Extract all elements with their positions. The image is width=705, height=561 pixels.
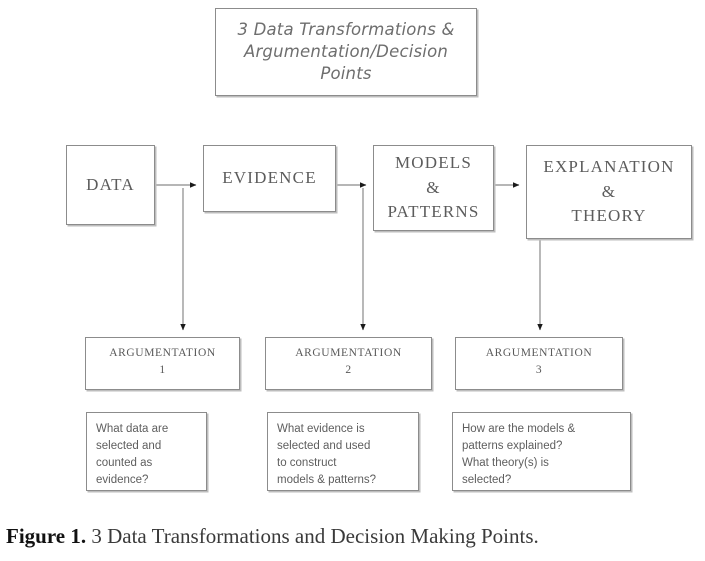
argumentation-box-3-label: ARGUMENTATION	[486, 345, 593, 362]
question-box-3-line-3: What theory(s) is	[462, 455, 575, 472]
question-box-3-line-4: selected?	[462, 472, 575, 489]
diagram-title-line-2: Argumentation/Decision	[237, 41, 454, 63]
argumentation-box-3-number: 3	[486, 362, 593, 379]
argumentation-box-2-text: ARGUMENTATION 2	[295, 345, 402, 380]
stage-box-evidence-text: EVIDENCE	[222, 166, 317, 191]
question-box-1-line-3: counted as	[96, 455, 168, 472]
stage-box-models-line-2: &	[387, 176, 479, 201]
question-box-2: What evidence is selected and used to co…	[267, 412, 419, 491]
question-box-2-line-2: selected and used	[277, 438, 376, 455]
figure-diagram: 3 Data Transformations & Argumentation/D…	[0, 0, 705, 505]
stage-box-explanation-line-1: EXPLANATION	[543, 155, 674, 180]
question-box-2-line-1: What evidence is	[277, 421, 376, 438]
stage-box-models-and-patterns: MODELS & PATTERNS	[373, 145, 494, 231]
stage-box-evidence-line-1: EVIDENCE	[222, 166, 317, 191]
argumentation-box-3: ARGUMENTATION 3	[455, 337, 623, 390]
stage-box-data-line-1: DATA	[86, 173, 135, 198]
stage-box-explanation-and-theory: EXPLANATION & THEORY	[526, 145, 692, 239]
question-box-1-line-1: What data are	[96, 421, 168, 438]
figure-caption-text: 3 Data Transformations and Decision Maki…	[86, 524, 539, 548]
question-box-2-line-4: models & patterns?	[277, 472, 376, 489]
question-box-2-line-3: to construct	[277, 455, 376, 472]
stage-box-explanation-text: EXPLANATION & THEORY	[543, 155, 674, 229]
argumentation-box-3-text: ARGUMENTATION 3	[486, 345, 593, 380]
argumentation-box-1-text: ARGUMENTATION 1	[109, 345, 216, 380]
stage-box-models-line-1: MODELS	[387, 151, 479, 176]
stage-box-models-and-patterns-text: MODELS & PATTERNS	[387, 151, 479, 225]
diagram-title-line-3: Points	[237, 63, 454, 85]
argumentation-box-1-number: 1	[109, 362, 216, 379]
diagram-title-text: 3 Data Transformations & Argumentation/D…	[237, 19, 454, 85]
figure-caption: Figure 1. 3 Data Transformations and Dec…	[6, 523, 705, 549]
argumentation-box-2-label: ARGUMENTATION	[295, 345, 402, 362]
argumentation-box-1: ARGUMENTATION 1	[85, 337, 240, 390]
question-box-1-line-2: selected and	[96, 438, 168, 455]
stage-box-evidence: EVIDENCE	[203, 145, 336, 212]
argumentation-box-2-number: 2	[295, 362, 402, 379]
question-box-1-text: What data are selected and counted as ev…	[96, 421, 168, 489]
diagram-title-line-1: 3 Data Transformations &	[237, 19, 454, 41]
question-box-3-line-2: patterns explained?	[462, 438, 575, 455]
question-box-1: What data are selected and counted as ev…	[86, 412, 207, 491]
stage-box-models-line-3: PATTERNS	[387, 200, 479, 225]
argumentation-box-2: ARGUMENTATION 2	[265, 337, 432, 390]
question-box-3: How are the models & patterns explained?…	[452, 412, 631, 491]
question-box-3-text: How are the models & patterns explained?…	[462, 421, 575, 489]
figure-caption-label: Figure 1.	[6, 524, 86, 548]
diagram-title-box: 3 Data Transformations & Argumentation/D…	[215, 8, 477, 96]
argumentation-box-1-label: ARGUMENTATION	[109, 345, 216, 362]
question-box-3-line-1: How are the models &	[462, 421, 575, 438]
stage-box-data: DATA	[66, 145, 155, 225]
question-box-2-text: What evidence is selected and used to co…	[277, 421, 376, 489]
question-box-1-line-4: evidence?	[96, 472, 168, 489]
stage-box-data-text: DATA	[86, 173, 135, 198]
stage-box-explanation-line-3: THEORY	[543, 204, 674, 229]
stage-box-explanation-line-2: &	[543, 180, 674, 205]
